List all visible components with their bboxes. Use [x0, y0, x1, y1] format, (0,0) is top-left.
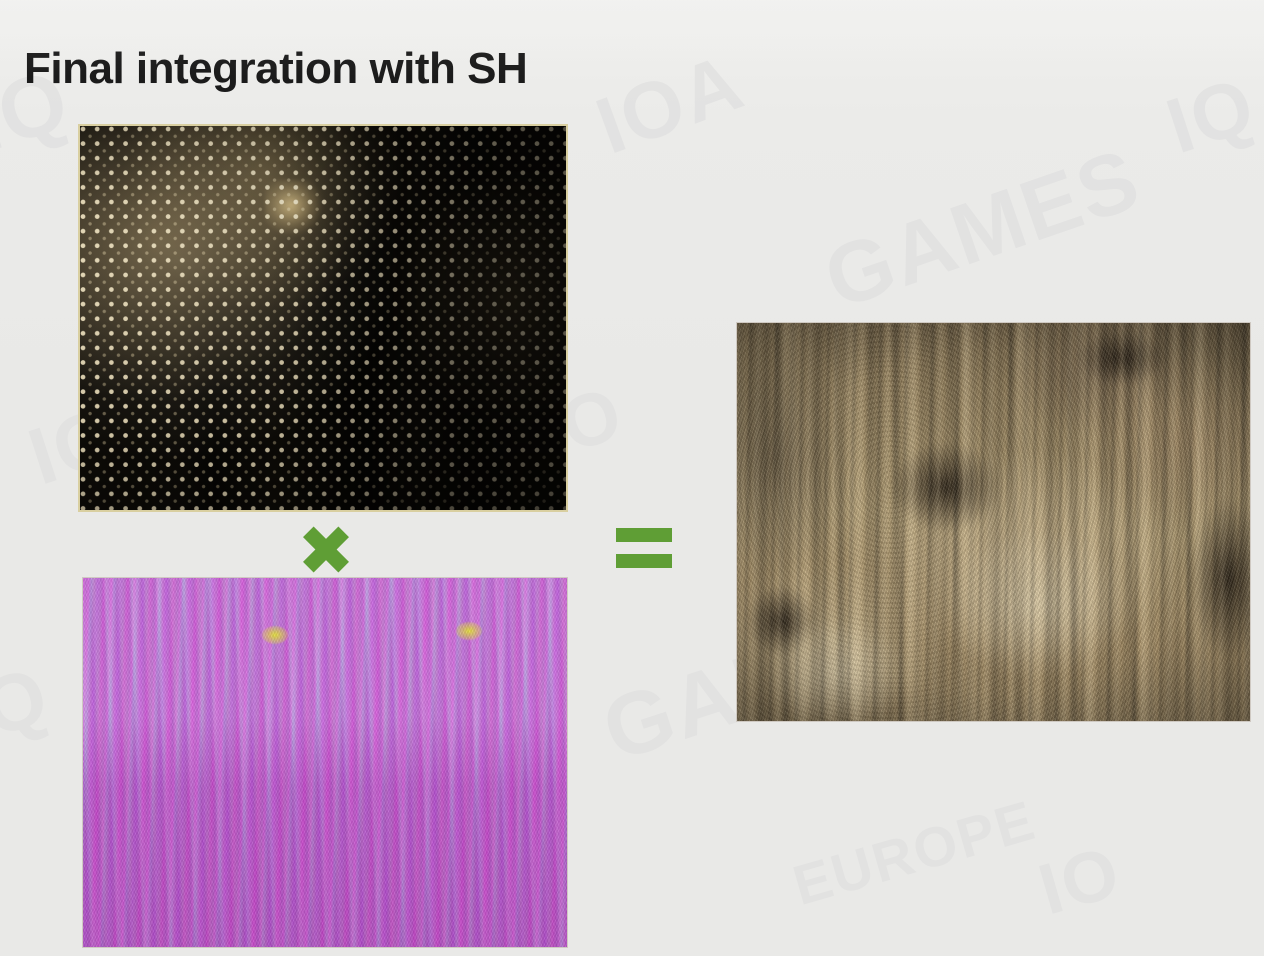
result-stalactite-columns-b — [736, 322, 1251, 722]
result-image — [736, 322, 1251, 722]
equals-bar-top — [616, 528, 672, 542]
watermark-text: GAMES — [813, 130, 1153, 330]
watermark-text: IQ — [1156, 59, 1264, 172]
equals-bar-bottom — [616, 554, 672, 568]
equals-operator-icon — [616, 526, 672, 572]
normalmap-accent-dot — [262, 626, 288, 644]
slide-canvas: IQ IOA IQ GAMES IQ IO GAME IQ EUROPE IO … — [0, 0, 1264, 956]
normalmap-lower-tint — [83, 718, 567, 947]
watermark-text: EUROPE — [786, 787, 1043, 918]
normalmap-image — [82, 577, 568, 948]
slide-title: Final integration with SH — [24, 45, 527, 93]
watermark-text: IQ — [0, 649, 61, 764]
lightmap-texel-grid — [80, 126, 566, 510]
watermark-text: IO — [1030, 831, 1130, 932]
normalmap-accent-dot — [456, 622, 482, 640]
multiply-operator-icon — [300, 523, 352, 575]
lightmap-image — [78, 124, 568, 512]
watermark-text: IOA — [585, 35, 756, 172]
